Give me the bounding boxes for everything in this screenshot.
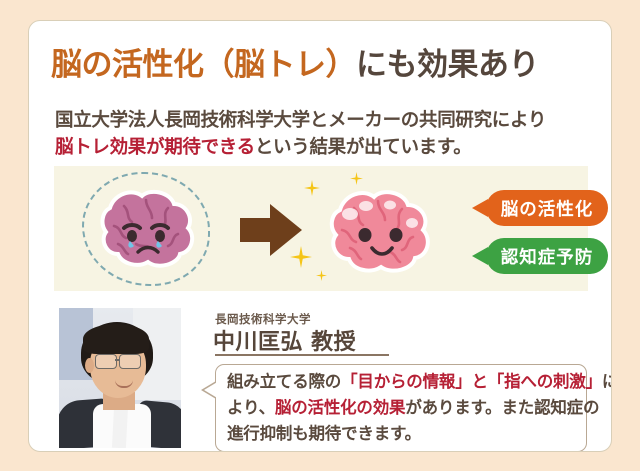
- happy-brain-svg: [320, 178, 438, 282]
- title-rest: にも効果あり: [356, 47, 539, 83]
- hair-front: [83, 324, 149, 354]
- glasses-bridge-icon: [115, 359, 120, 361]
- title-highlight: 脳の活性化（脳トレ）: [51, 47, 356, 83]
- quote-line-2: より、脳の活性化の効果があります。また認知症の: [227, 395, 579, 421]
- quote-line-1: 組み立てる際の「目からの情報」と「指への刺激」に: [227, 369, 579, 395]
- subtitle-line-1: 国立大学法人長岡技術科学大学とメーカーの共同研究により: [55, 107, 599, 134]
- right-arrow-head-icon: [270, 204, 302, 256]
- ear: [85, 358, 94, 373]
- badge-brain-activation: 脳の活性化: [486, 190, 608, 226]
- outer-frame: 脳の活性化（脳トレ）にも効果あり 国立大学法人長岡技術科学大学とメーカーの共同研…: [0, 0, 640, 471]
- professor-name: 中川匡弘 教授: [213, 324, 356, 356]
- subtitle-line-2-rest: という結果が出ています。: [255, 137, 472, 158]
- illustration-panel: 脳の活性化 認知症予防: [54, 166, 588, 291]
- shirt-front: [112, 406, 128, 448]
- sparkle-icon: [304, 180, 320, 196]
- quote-text: 組み立てる際の「目からの情報」と「指への刺激」に より、脳の活性化の効果がありま…: [227, 369, 579, 447]
- subtitle-line-2: 脳トレ効果が期待できるという結果が出ています。: [55, 134, 599, 161]
- happy-brain-icon: [320, 178, 438, 282]
- page-title: 脳の活性化（脳トレ）にも効果あり: [51, 39, 595, 84]
- professor-photo: [59, 308, 181, 448]
- badge-dementia-prevention: 認知症予防: [486, 238, 608, 274]
- quote-tail-fill: [204, 381, 219, 399]
- content-card: 脳の活性化（脳トレ）にも効果あり 国立大学法人長岡技術科学大学とメーカーの共同研…: [28, 20, 612, 452]
- subtitle: 国立大学法人長岡技術科学大学とメーカーの共同研究により 脳トレ効果が期待できると…: [55, 107, 599, 161]
- quote-line-3: 進行抑制も期待できます。: [227, 421, 579, 447]
- glasses-right-lens-icon: [119, 354, 141, 369]
- professor-underline: [215, 354, 389, 356]
- subtitle-highlight: 脳トレ効果が期待できる: [55, 137, 255, 158]
- glasses-left-lens-icon: [95, 354, 117, 369]
- sad-brain-icon: [90, 178, 200, 278]
- sad-brain-svg: [90, 178, 200, 278]
